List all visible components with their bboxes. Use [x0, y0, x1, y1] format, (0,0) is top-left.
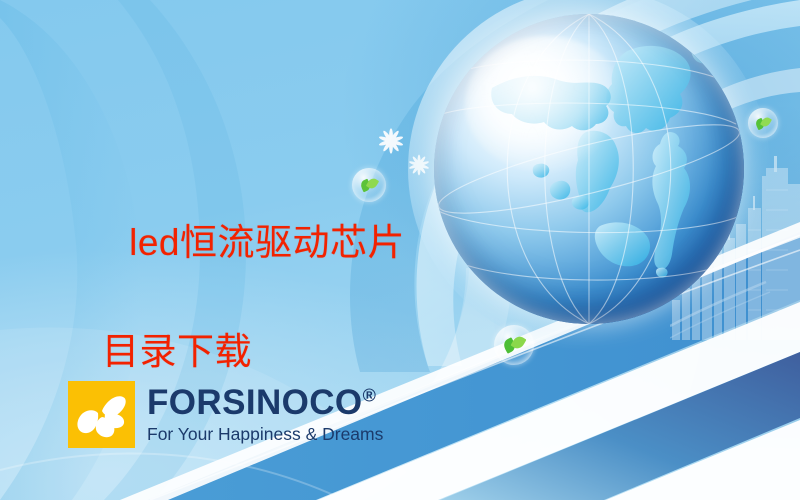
globe-rim-light — [434, 14, 744, 324]
bubble-icon — [494, 325, 534, 365]
logo-text-block: FORSINOCO® For Your Happiness & Dreams — [147, 385, 383, 444]
registered-trademark-icon: ® — [363, 386, 377, 406]
brand-logo[interactable]: FORSINOCO® For Your Happiness & Dreams — [68, 381, 383, 448]
promotional-banner: led恒流驱动芯片 目录下载 FORSINOCO® For Your Happ — [0, 0, 800, 500]
brand-tagline: For Your Happiness & Dreams — [147, 426, 383, 444]
globe-sphere — [434, 14, 744, 324]
four-petal-pinwheel-icon — [68, 381, 135, 448]
globe-3d-icon — [434, 14, 744, 324]
headline-line-2: 目录下载 — [86, 325, 405, 379]
brand-name-text: FORSINOCO — [147, 383, 363, 422]
bubble-icon — [748, 108, 778, 138]
flower-asterisk-icon — [378, 128, 404, 154]
flower-asterisk-icon — [408, 154, 430, 176]
headline-line-1: led恒流驱动芯片 — [129, 222, 405, 263]
brand-name: FORSINOCO® — [147, 385, 383, 420]
